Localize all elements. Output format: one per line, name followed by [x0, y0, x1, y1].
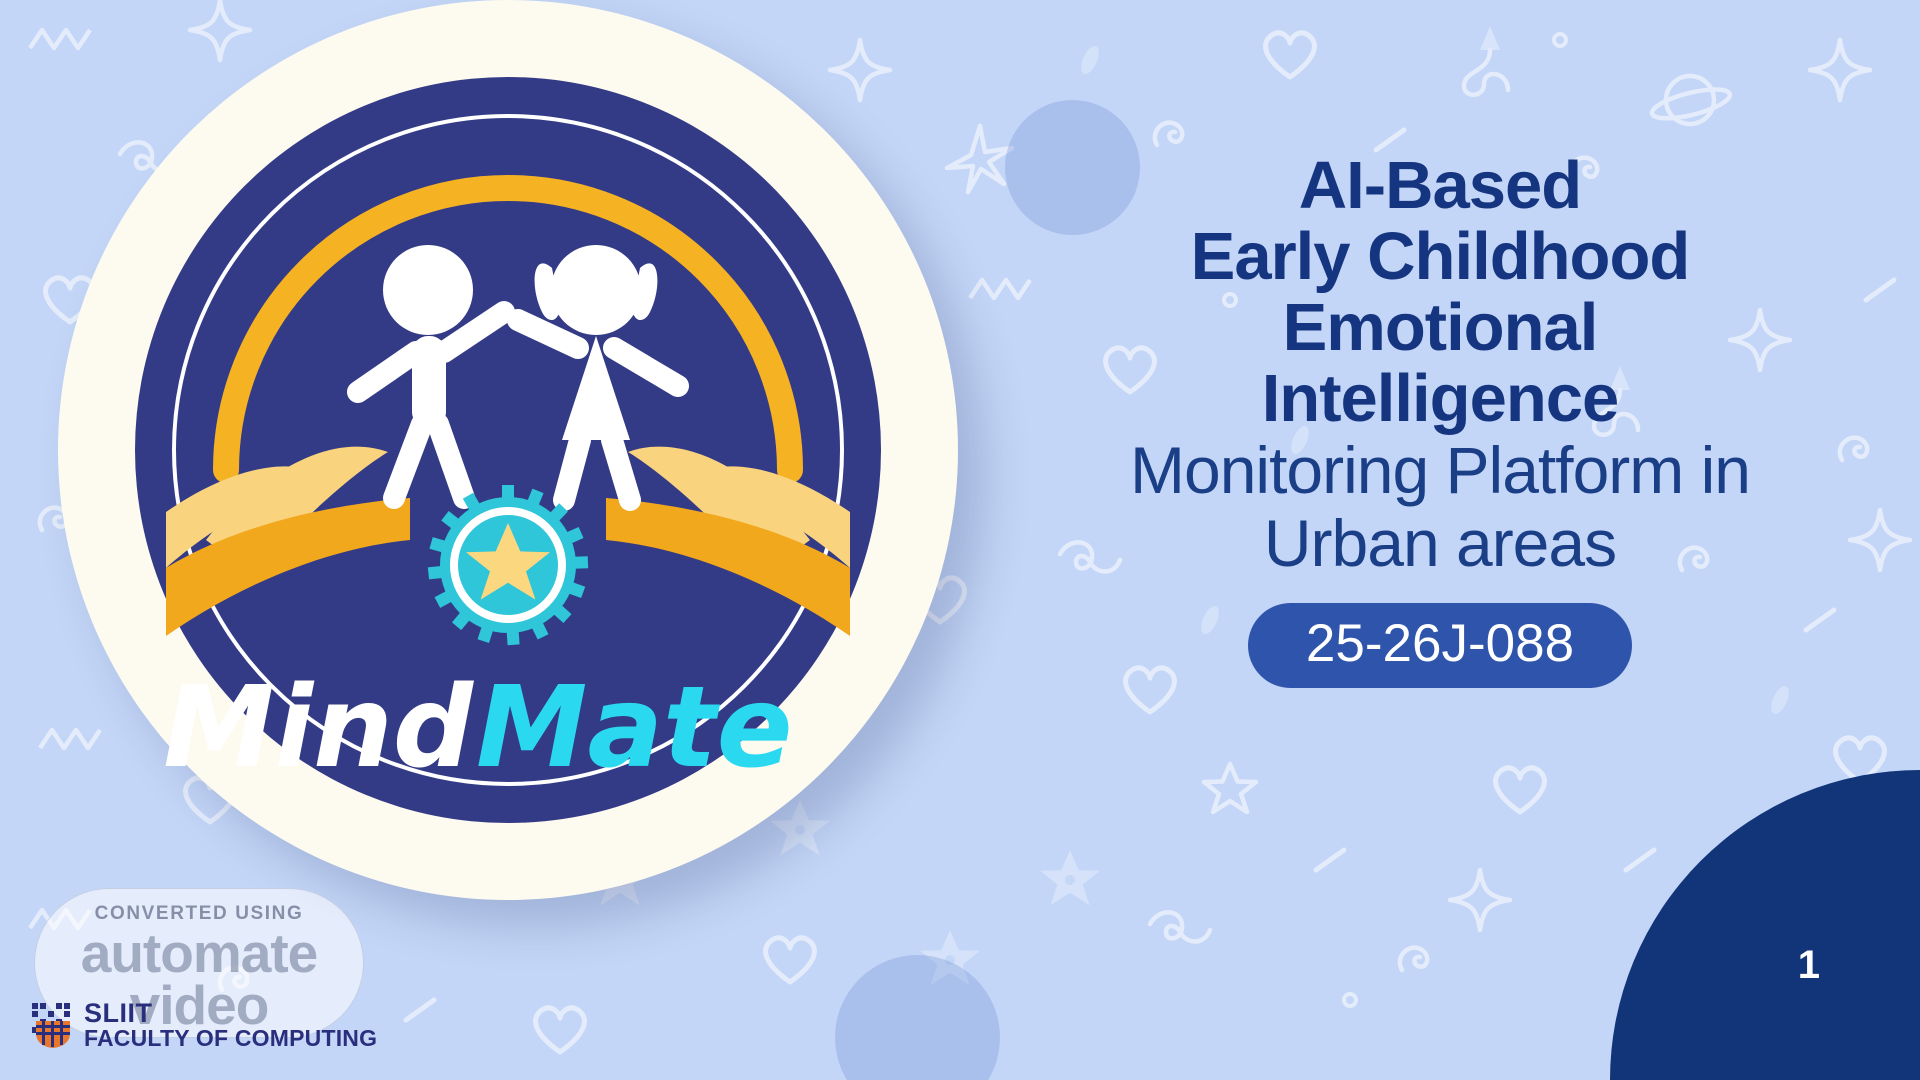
title-line-2: Early Childhood — [1020, 221, 1860, 292]
page-number-corner — [1610, 770, 1920, 1080]
sliit-name: SLIIT — [84, 1000, 377, 1027]
sliit-faculty-logo: SLIIT FACULTY OF COMPUTING — [30, 1000, 377, 1050]
sliit-emblem-icon — [30, 1001, 76, 1049]
title-line-3: Emotional — [1020, 292, 1860, 363]
sliit-faculty: FACULTY OF COMPUTING — [84, 1027, 377, 1050]
logo-word-mate: Mate — [476, 663, 793, 793]
page-number: 1 — [1798, 943, 1820, 988]
subtitle-line-2: Urban areas — [1020, 507, 1860, 580]
logo-wordmark: Mind Mate — [163, 663, 792, 793]
presentation-slide: Mind Mate AI-Based Early Childhood Emoti… — [0, 0, 1920, 1080]
star-rosette-icon — [428, 485, 588, 645]
title-block: AI-Based Early Childhood Emotional Intel… — [1020, 150, 1860, 688]
title-line-1: AI-Based — [1020, 150, 1860, 221]
project-id-badge: 25-26J-088 — [1248, 603, 1632, 688]
arch-icon — [226, 188, 790, 470]
logo-artwork: Mind Mate — [58, 0, 958, 900]
title-line-4: Intelligence — [1020, 363, 1860, 434]
mindmate-logo: Mind Mate — [38, 0, 1038, 1040]
logo-word-mind: Mind — [163, 663, 475, 793]
subtitle-line-1: Monitoring Platform in — [1020, 434, 1860, 507]
children-icon — [358, 245, 678, 500]
